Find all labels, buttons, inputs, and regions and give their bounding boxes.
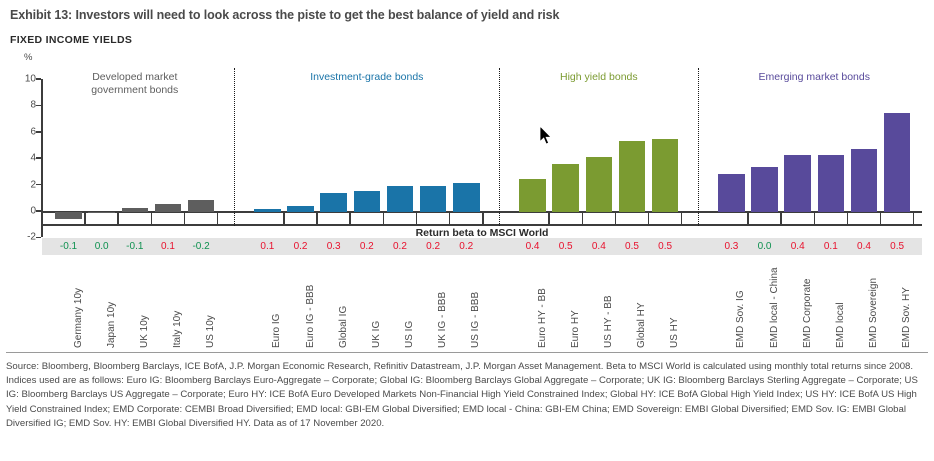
x-axis-label: EMD Sov. HY xyxy=(901,287,912,348)
bar[interactable] xyxy=(851,149,878,212)
x-axis-tick xyxy=(84,211,86,225)
x-axis-label: Germany 10y xyxy=(73,288,84,348)
y-axis-tick-label: 6 xyxy=(14,126,36,137)
x-axis-label: Euro HY - BB xyxy=(537,288,548,348)
chart-subtitle: FIXED INCOME YIELDS xyxy=(10,34,924,46)
bar[interactable] xyxy=(453,183,480,212)
beta-value: 0.2 xyxy=(383,238,416,255)
x-axis-tick xyxy=(117,211,119,225)
x-axis-label: US 10y xyxy=(205,315,216,348)
bar[interactable] xyxy=(586,157,613,212)
group-label: High yield bonds xyxy=(489,71,709,84)
x-axis-tick xyxy=(349,211,351,225)
x-axis-labels: Germany 10yJapan 10yUK 10yItaly 10yUS 10… xyxy=(42,258,922,350)
x-axis-caption: Return beta to MSCI World xyxy=(42,227,922,239)
bar[interactable] xyxy=(387,186,414,212)
x-axis-tick xyxy=(648,211,650,225)
y-axis-tick-label: -2 xyxy=(14,232,36,243)
x-axis-label: Japan 10y xyxy=(106,302,117,348)
beta-value: 0.4 xyxy=(847,238,880,255)
x-axis-label: US HY - BB xyxy=(603,295,614,348)
beta-value: 0.3 xyxy=(715,238,748,255)
chart-header: Exhibit 13: Investors will need to look … xyxy=(0,0,934,63)
x-axis-tick xyxy=(548,211,550,225)
bar[interactable] xyxy=(552,164,579,212)
bar[interactable] xyxy=(718,174,745,212)
x-axis-label: EMD local - China xyxy=(769,267,780,348)
x-axis-label: UK 10y xyxy=(139,315,150,348)
beta-value: 0.4 xyxy=(516,238,549,255)
y-axis-tick-mark xyxy=(36,184,41,186)
x-axis-label: Euro IG - BBB xyxy=(305,285,316,348)
bar[interactable] xyxy=(619,141,646,212)
x-axis-tick xyxy=(747,211,749,225)
x-axis-label: US IG xyxy=(404,321,415,348)
beta-value: 0.0 xyxy=(748,238,781,255)
x-axis-label: EMD Corporate xyxy=(802,279,813,348)
beta-value: 0.5 xyxy=(881,238,914,255)
x-axis-tick xyxy=(449,211,451,225)
bar[interactable] xyxy=(652,139,679,212)
beta-value: 0.4 xyxy=(781,238,814,255)
footnote-divider xyxy=(6,352,928,353)
bar[interactable] xyxy=(320,193,347,212)
group-label: Investment-grade bonds xyxy=(257,71,477,84)
y-axis-tick-label: 0 xyxy=(14,206,36,217)
footnote-source-text: Source: Bloomberg, Bloomberg Barclays, I… xyxy=(6,360,930,431)
x-axis-tick xyxy=(780,211,782,225)
bar[interactable] xyxy=(354,191,381,212)
x-axis-label: Euro HY xyxy=(570,310,581,348)
beta-value: -0.1 xyxy=(118,238,151,255)
y-axis-tick-label: 4 xyxy=(14,153,36,164)
bar[interactable] xyxy=(155,204,182,212)
y-axis-tick-mark xyxy=(36,105,41,107)
bar[interactable] xyxy=(784,155,811,212)
y-axis-tick-label: 8 xyxy=(14,100,36,111)
y-axis-tick-mark xyxy=(36,237,41,239)
x-axis-tick xyxy=(582,211,584,225)
x-axis-label: US IG - BBB xyxy=(470,292,481,348)
beta-value: 0.3 xyxy=(317,238,350,255)
bar[interactable] xyxy=(420,186,447,212)
x-axis-tick xyxy=(814,211,816,225)
beta-value: -0.1 xyxy=(52,238,85,255)
group-separator xyxy=(234,68,235,226)
bar[interactable] xyxy=(55,212,82,219)
bar[interactable] xyxy=(818,155,845,212)
beta-value: 0.5 xyxy=(549,238,582,255)
beta-value: 0.0 xyxy=(85,238,118,255)
group-separator xyxy=(698,68,699,226)
beta-value: 0.2 xyxy=(350,238,383,255)
y-axis-tick-mark xyxy=(36,131,41,133)
bar[interactable] xyxy=(884,113,911,212)
x-axis-tick xyxy=(283,211,285,225)
beta-value: 0.5 xyxy=(649,238,682,255)
page-title: Exhibit 13: Investors will need to look … xyxy=(10,8,924,22)
x-axis-tick xyxy=(847,211,849,225)
x-axis-tick xyxy=(151,211,153,225)
beta-value: 0.2 xyxy=(417,238,450,255)
x-axis-tick xyxy=(615,211,617,225)
x-axis-label: Italy 10y xyxy=(172,311,183,348)
group-label: Emerging market bonds xyxy=(704,71,924,84)
x-axis-label: EMD Sov. IG xyxy=(735,290,746,348)
x-axis-label: EMD Sovereign xyxy=(868,278,879,348)
beta-value: -0.2 xyxy=(185,238,218,255)
beta-value: 0.2 xyxy=(450,238,483,255)
x-axis-tick xyxy=(217,211,219,225)
x-axis-tick xyxy=(383,211,385,225)
y-axis-tick-mark xyxy=(36,157,41,159)
chart-plot-area: -20246810 -0.10.0-0.10.1-0.20.10.20.30.2… xyxy=(0,60,934,350)
x-axis-label: US HY xyxy=(669,317,680,348)
x-axis-label: EMD local xyxy=(835,302,846,348)
y-axis-tick-mark xyxy=(36,210,41,212)
x-axis-tick xyxy=(416,211,418,225)
group-separator xyxy=(499,68,500,226)
beta-value: 0.5 xyxy=(615,238,648,255)
x-axis-tick xyxy=(184,211,186,225)
x-axis-tick xyxy=(482,211,484,225)
beta-value: 0.4 xyxy=(582,238,615,255)
x-axis-label: UK IG xyxy=(371,321,382,348)
beta-value: 0.1 xyxy=(251,238,284,255)
x-axis-label: Global IG xyxy=(338,306,349,348)
beta-value-band: -0.10.0-0.10.1-0.20.10.20.30.20.20.20.20… xyxy=(42,238,922,255)
bar[interactable] xyxy=(751,167,778,212)
x-axis-tick xyxy=(913,211,915,225)
x-axis-tick xyxy=(681,211,683,225)
y-axis-tick-label: 2 xyxy=(14,179,36,190)
x-axis-label: Euro IG xyxy=(271,314,282,348)
beta-value: 0.1 xyxy=(814,238,847,255)
bar[interactable] xyxy=(519,179,546,212)
beta-value: 0.2 xyxy=(284,238,317,255)
x-axis-tick xyxy=(880,211,882,225)
x-axis-label: UK IG - BBB xyxy=(437,292,448,348)
beta-value: 0.1 xyxy=(151,238,184,255)
x-axis-label: Global HY xyxy=(636,302,647,348)
x-axis-tick xyxy=(316,211,318,225)
group-label: Developed market government bonds xyxy=(25,71,245,96)
bar[interactable] xyxy=(188,200,215,212)
